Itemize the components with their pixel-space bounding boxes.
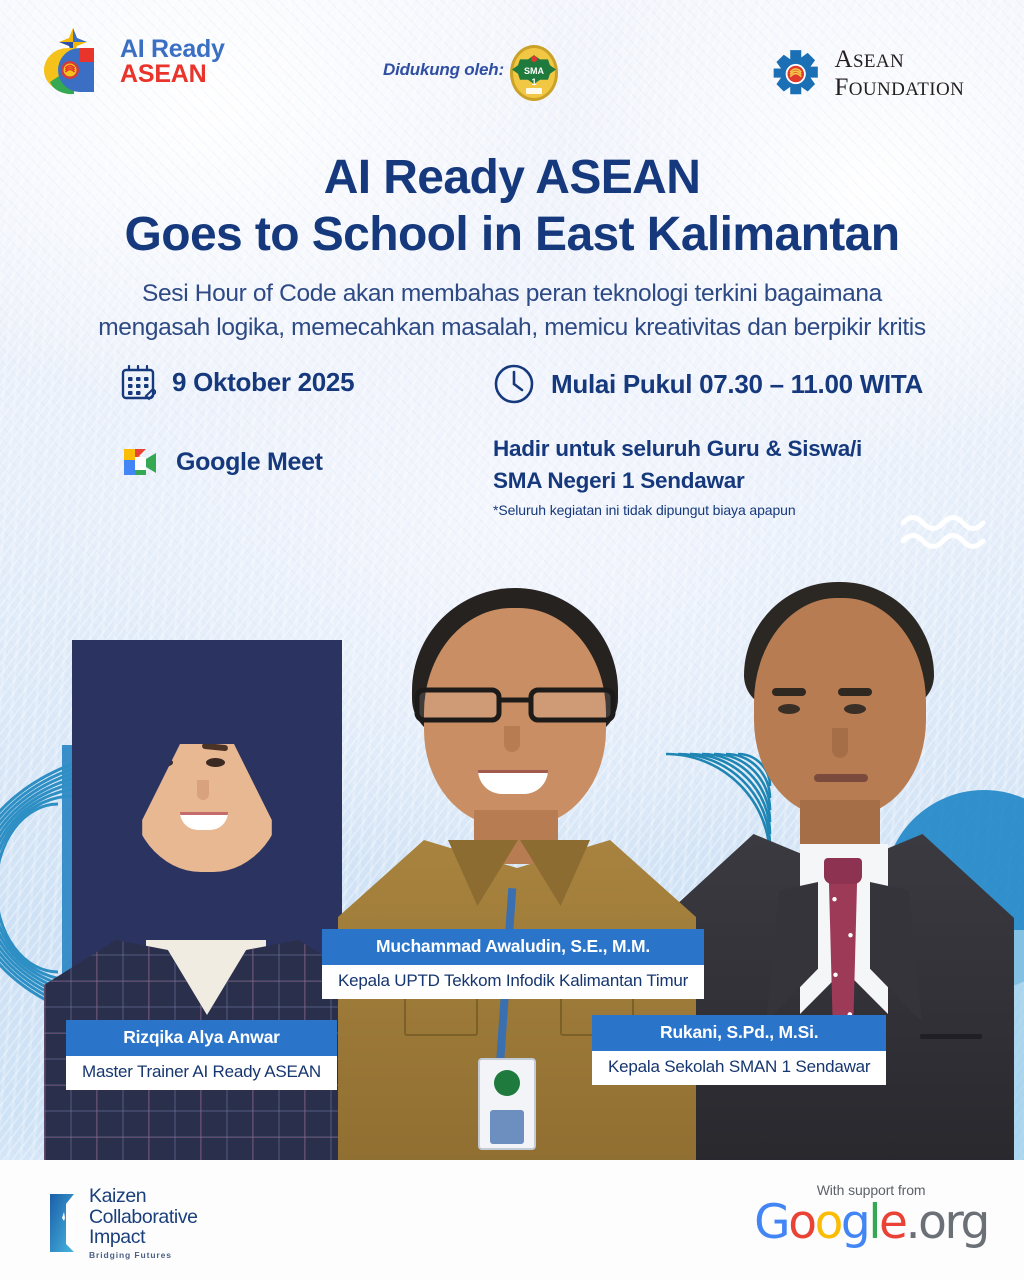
kaizen-line-1: Kaizen	[89, 1186, 198, 1207]
kaizen-book-icon	[46, 1192, 80, 1254]
google-letter-g1: G	[754, 1195, 788, 1250]
google-meet-icon	[120, 445, 160, 479]
calendar-icon	[120, 363, 156, 401]
event-details: 9 Oktober 2025 Google Meet	[0, 363, 1024, 513]
google-org-wordmark: Google.org	[754, 1199, 988, 1246]
kaizen-line-2: Collaborative	[89, 1207, 198, 1228]
title-block: AI Ready ASEAN Goes to School in East Ka…	[0, 150, 1024, 344]
svg-text:1: 1	[531, 77, 536, 87]
kaizen-line-3: Impact	[89, 1227, 198, 1248]
speaker-photo-muchammad	[352, 588, 682, 1188]
svg-text:SMA: SMA	[524, 66, 545, 76]
google-letter-o2: o	[815, 1195, 841, 1250]
speaker-photo-rukani	[688, 582, 988, 1182]
google-letter-o1: o	[788, 1195, 814, 1250]
asean-foundation-mark-icon	[770, 46, 821, 102]
details-right-column: Mulai Pukul 07.30 – 11.00 WITA Hadir unt…	[493, 363, 923, 518]
event-time-value: Mulai Pukul 07.30 – 11.00 WITA	[551, 369, 923, 400]
title-line-1: AI Ready ASEAN	[0, 150, 1024, 207]
speaker-role: Kepala Sekolah SMAN 1 Sendawar	[592, 1051, 886, 1085]
ai-ready-asean-logo: AI Ready ASEAN	[40, 26, 225, 98]
poster-header: AI Ready ASEAN Didukung oleh: SMA 1	[0, 0, 1024, 120]
event-date-value: 9 Oktober 2025	[172, 367, 354, 398]
nameplate-rizqika: Rizqika Alya Anwar Master Trainer AI Rea…	[66, 1020, 337, 1090]
ai-ready-asean-mark-icon	[40, 26, 110, 98]
google-letter-e: e	[879, 1195, 906, 1250]
poster-title: AI Ready ASEAN Goes to School in East Ka…	[0, 150, 1024, 263]
speaker-photo-rizqika	[50, 640, 360, 1180]
title-line-2: Goes to School in East Kalimantan	[0, 207, 1024, 264]
google-letter-g2: g	[841, 1195, 868, 1250]
speaker-role: Kepala UPTD Tekkom Infodik Kalimantan Ti…	[322, 965, 704, 999]
kaizen-collaborative-impact-logo: Kaizen Collaborative Impact Bridging Fut…	[46, 1186, 198, 1260]
af-word-foundation-rest: OUNDATION	[849, 79, 964, 100]
asean-foundation-logo: ASEAN FOUNDATION	[770, 46, 1024, 102]
event-platform-value: Google Meet	[176, 448, 323, 477]
clock-icon	[493, 363, 535, 405]
event-time-row: Mulai Pukul 07.30 – 11.00 WITA	[493, 363, 923, 405]
subtitle-line-2: mengasah logika, memecahkan masalah, mem…	[0, 311, 1024, 344]
google-org-support-block: With support from Google.org	[754, 1182, 988, 1246]
details-left-column: 9 Oktober 2025 Google Meet	[120, 363, 354, 479]
speaker-name: Muchammad Awaludin, S.E., M.M.	[322, 929, 704, 965]
poster-subtitle: Sesi Hour of Code akan membahas peran te…	[0, 277, 1024, 344]
ai-ready-asean-wordmark: AI Ready ASEAN	[120, 37, 225, 87]
event-platform-row: Google Meet	[120, 445, 354, 479]
speaker-name: Rukani, S.Pd., M.Si.	[592, 1015, 886, 1051]
event-date-row: 9 Oktober 2025	[120, 363, 354, 401]
event-free-note: *Seluruh kegiatan ini tidak dipungut bia…	[493, 502, 923, 518]
af-word-foundation-cap: F	[834, 74, 848, 101]
google-dot-org: .org	[906, 1195, 988, 1250]
poster-canvas: AI Ready ASEAN Didukung oleh: SMA 1	[0, 0, 1024, 1280]
kaizen-wordmark: Kaizen Collaborative Impact Bridging Fut…	[89, 1186, 198, 1260]
af-word-asean-cap: A	[834, 46, 852, 73]
eyeglasses-icon	[414, 684, 616, 724]
af-word-asean-rest: SEAN	[853, 51, 904, 72]
google-letter-l: l	[868, 1195, 879, 1250]
sma-negeri-1-sendawar-emblem-icon: SMA 1	[508, 44, 560, 102]
speaker-name: Rizqika Alya Anwar	[66, 1020, 337, 1056]
audience-line-1: Hadir untuk seluruh Guru & Siswa/i	[493, 433, 923, 465]
nameplate-rukani: Rukani, S.Pd., M.Si. Kepala Sekolah SMAN…	[592, 1015, 886, 1085]
subtitle-line-1: Sesi Hour of Code akan membahas peran te…	[0, 277, 1024, 310]
ara-logo-line2: ASEAN	[120, 62, 225, 87]
audience-line-2: SMA Negeri 1 Sendawar	[493, 465, 923, 497]
ara-logo-line1: AI Ready	[120, 37, 225, 62]
supported-by-label: Didukung oleh:	[383, 60, 504, 80]
asean-foundation-wordmark: ASEAN FOUNDATION	[834, 46, 1024, 102]
event-audience: Hadir untuk seluruh Guru & Siswa/i SMA N…	[493, 433, 923, 497]
nameplate-muchammad: Muchammad Awaludin, S.E., M.M. Kepala UP…	[322, 929, 704, 999]
kaizen-tagline: Bridging Futures	[89, 1251, 198, 1260]
speaker-role: Master Trainer AI Ready ASEAN	[66, 1056, 337, 1090]
